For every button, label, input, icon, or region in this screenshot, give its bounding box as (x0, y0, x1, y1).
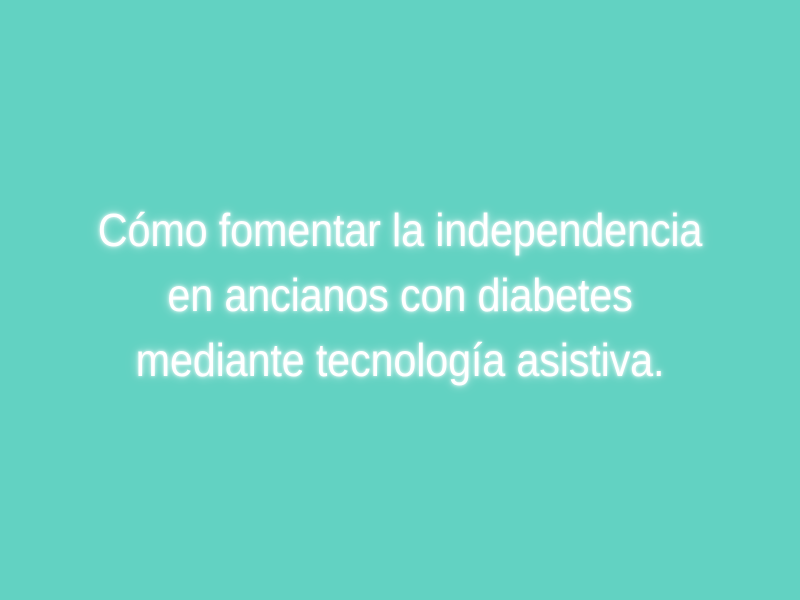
text-card: Cómo fomentar la independencia en ancian… (0, 0, 800, 600)
headline-line-1: Cómo fomentar la independencia (76, 198, 724, 263)
headline-line-2: en ancianos con diabetes (76, 263, 724, 328)
headline: Cómo fomentar la independencia en ancian… (40, 198, 760, 393)
headline-line-3: mediante tecnología asistiva. (76, 328, 724, 393)
